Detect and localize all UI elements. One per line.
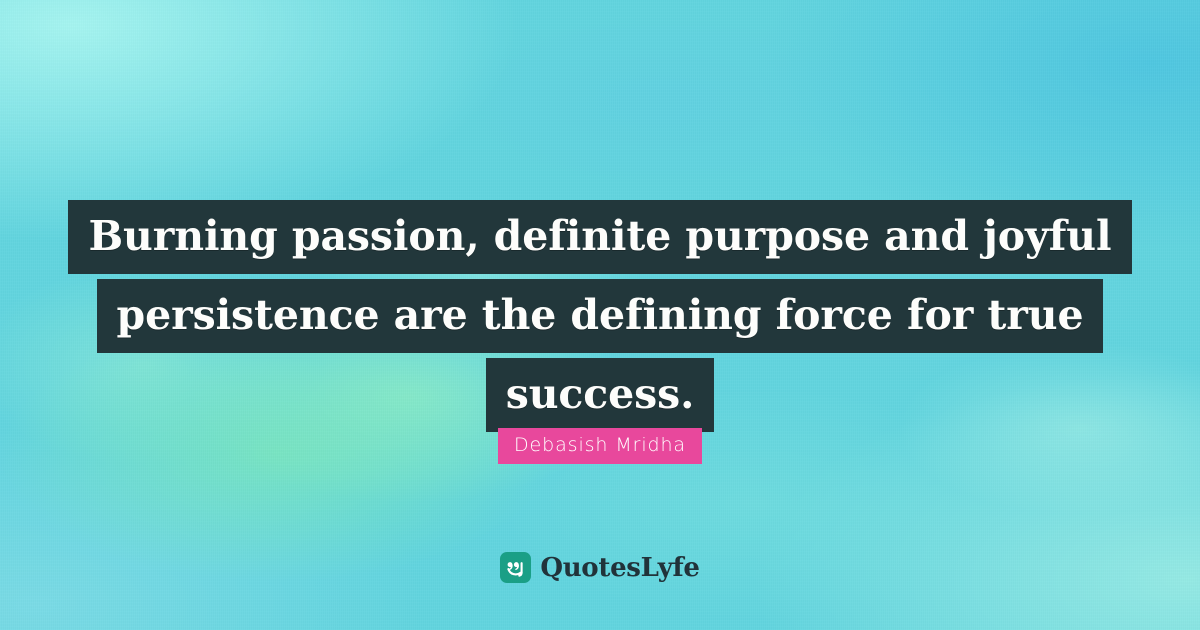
author-name: Debasish Mridha	[498, 428, 702, 464]
quote-line: Burning passion, definite purpose and jo…	[68, 200, 1131, 274]
author-attribution: Debasish Mridha	[0, 428, 1200, 464]
quote-line: persistence are the defining force for t…	[97, 279, 1104, 353]
quote-smile-icon	[500, 552, 531, 583]
quote-card: Burning passion, definite purpose and jo…	[0, 0, 1200, 630]
brand-name: QuotesLyfe	[540, 555, 699, 581]
brand-logo[interactable]: QuotesLyfe	[0, 552, 1200, 583]
quote-text-block: Burning passion, definite purpose and jo…	[0, 200, 1200, 432]
card-content: Burning passion, definite purpose and jo…	[0, 0, 1200, 630]
quote-line: success.	[486, 358, 715, 432]
